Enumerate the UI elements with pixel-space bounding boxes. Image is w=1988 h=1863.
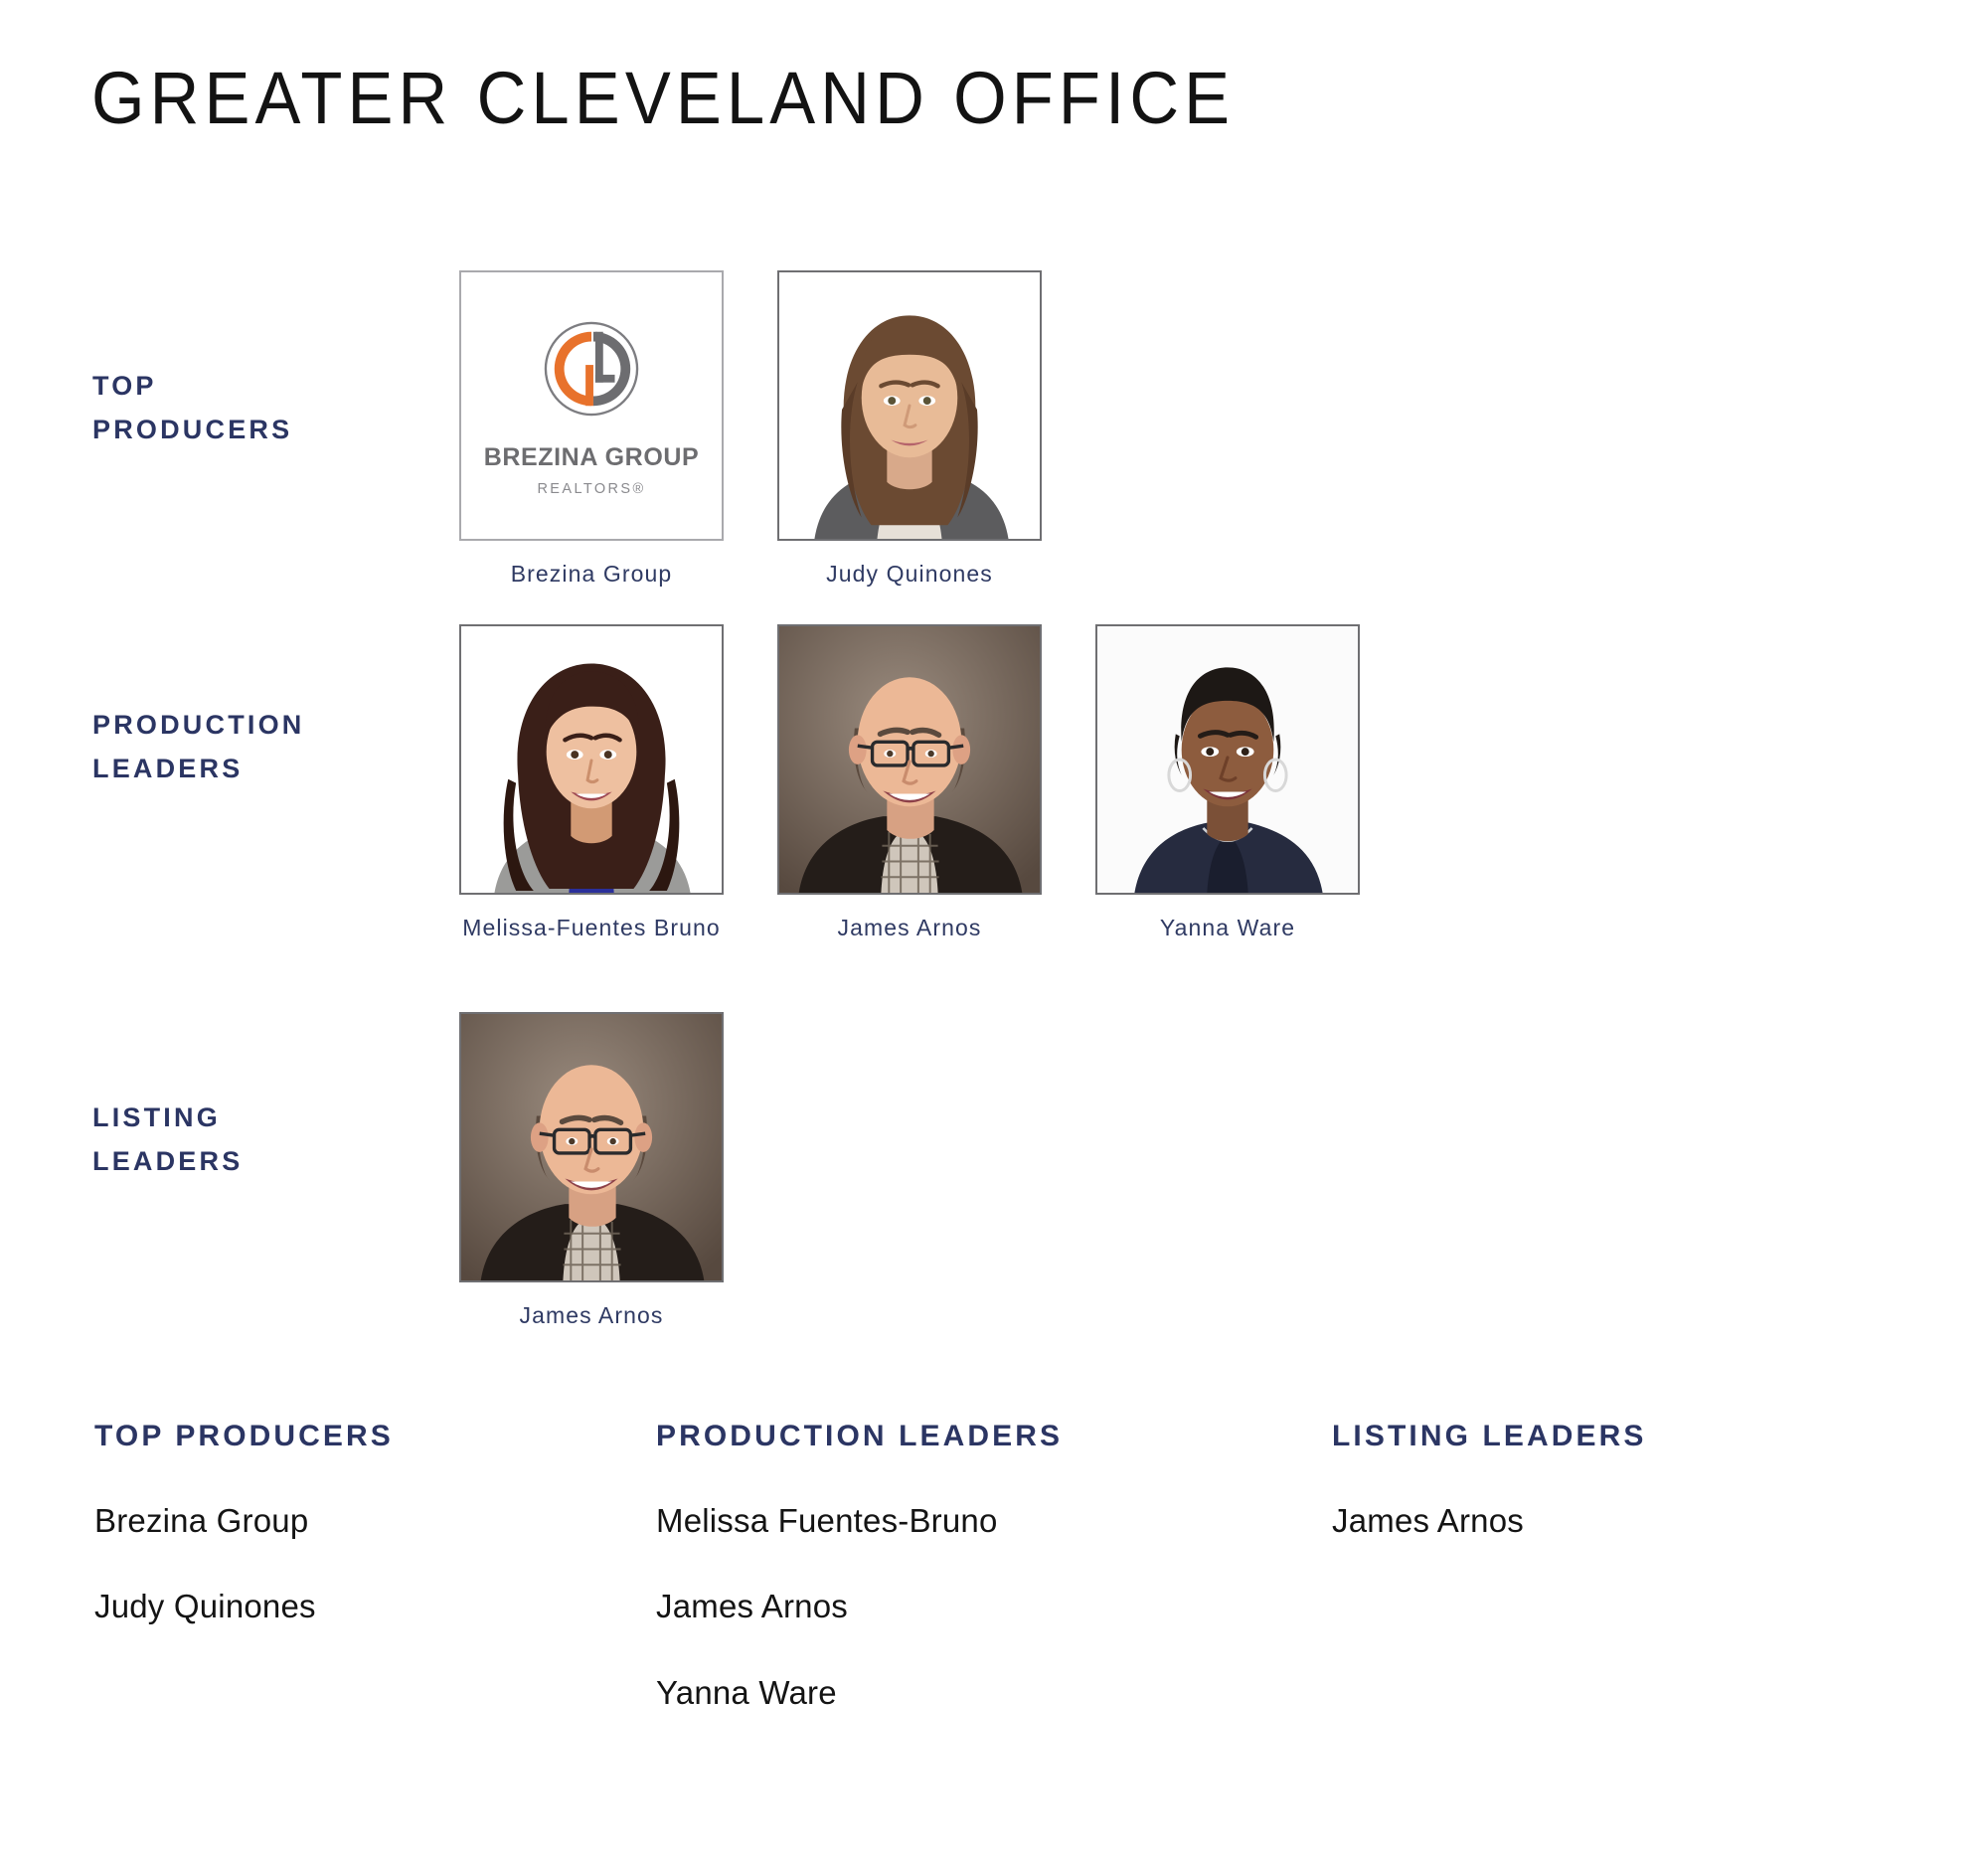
headshot-james-arnos-production xyxy=(779,626,1040,893)
award-card-judy-quinones[interactable]: Judy Quinones xyxy=(764,270,1055,590)
photo-frame-yanna-ware xyxy=(1095,624,1360,895)
awards-summary-lists: TOP PRODUCERS Brezina Group Judy Quinone… xyxy=(0,1422,1988,1761)
award-card-melissa-fuentes-bruno[interactable]: Melissa-Fuentes Bruno xyxy=(446,624,737,943)
brezina-logo-wordmark: BREZINA GROUP xyxy=(484,443,700,472)
brezina-group-logo: BREZINA GROUP REALTORS® xyxy=(461,272,722,539)
award-card-james-arnos-listing[interactable]: James Arnos xyxy=(446,1012,737,1331)
category-label-top-producers: TOP PRODUCERS xyxy=(92,365,292,451)
category-label-production-leaders: PRODUCTION LEADERS xyxy=(92,704,305,790)
brezina-monogram-icon xyxy=(543,320,640,418)
category-row-listing-leaders: LISTING LEADERS xyxy=(0,1012,1988,1340)
award-card-yanna-ware[interactable]: Yanna Ware xyxy=(1082,624,1373,943)
summary-heading-listing-leaders: LISTING LEADERS xyxy=(1332,1422,1988,1451)
card-caption: Yanna Ware xyxy=(1160,912,1295,943)
card-caption: Melissa-Fuentes Bruno xyxy=(462,912,721,943)
category-label-listing-leaders: LISTING LEADERS xyxy=(92,1097,243,1183)
card-caption: James Arnos xyxy=(837,912,981,943)
list-item: Judy Quinones xyxy=(94,1589,596,1624)
headshot-yanna-ware xyxy=(1097,626,1358,893)
award-card-brezina-group[interactable]: BREZINA GROUP REALTORS® Brezina Group xyxy=(446,270,737,590)
headshot-james-arnos-listing xyxy=(461,1014,722,1280)
photo-frame-judy-quinones xyxy=(777,270,1042,541)
logo-frame-brezina-group: BREZINA GROUP REALTORS® xyxy=(459,270,724,541)
card-caption: Judy Quinones xyxy=(826,558,993,590)
summary-heading-top-producers: TOP PRODUCERS xyxy=(94,1422,596,1451)
card-group-listing-leaders: James Arnos xyxy=(446,1012,764,1331)
list-item: James Arnos xyxy=(1332,1503,1988,1539)
award-card-james-arnos-production[interactable]: James Arnos xyxy=(764,624,1055,943)
card-group-top-producers: BREZINA GROUP REALTORS® Brezina Group xyxy=(446,270,1082,590)
summary-column-production-leaders: PRODUCTION LEADERS Melissa Fuentes-Bruno… xyxy=(596,1422,1332,1761)
brezina-logo-subtitle: REALTORS® xyxy=(537,481,645,497)
card-caption: Brezina Group xyxy=(511,558,673,590)
category-row-production-leaders: PRODUCTION LEADERS xyxy=(0,624,1988,1002)
summary-column-top-producers: TOP PRODUCERS Brezina Group Judy Quinone… xyxy=(0,1422,596,1761)
summary-column-listing-leaders: LISTING LEADERS James Arnos xyxy=(1332,1422,1988,1761)
category-row-top-producers: TOP PRODUCERS xyxy=(0,270,1988,598)
headshot-judy-quinones xyxy=(779,272,1040,539)
list-item: Melissa Fuentes-Bruno xyxy=(656,1503,1332,1539)
card-group-production-leaders: Melissa-Fuentes Bruno xyxy=(446,624,1401,943)
list-item: James Arnos xyxy=(656,1589,1332,1624)
summary-heading-production-leaders: PRODUCTION LEADERS xyxy=(656,1422,1332,1451)
photo-frame-james-arnos-listing xyxy=(459,1012,724,1282)
photo-frame-melissa-fuentes-bruno xyxy=(459,624,724,895)
list-item: Brezina Group xyxy=(94,1503,596,1539)
photo-frame-james-arnos-production xyxy=(777,624,1042,895)
headshot-melissa-fuentes-bruno xyxy=(461,626,722,893)
list-item: Yanna Ware xyxy=(656,1675,1332,1711)
card-caption: James Arnos xyxy=(519,1299,663,1331)
